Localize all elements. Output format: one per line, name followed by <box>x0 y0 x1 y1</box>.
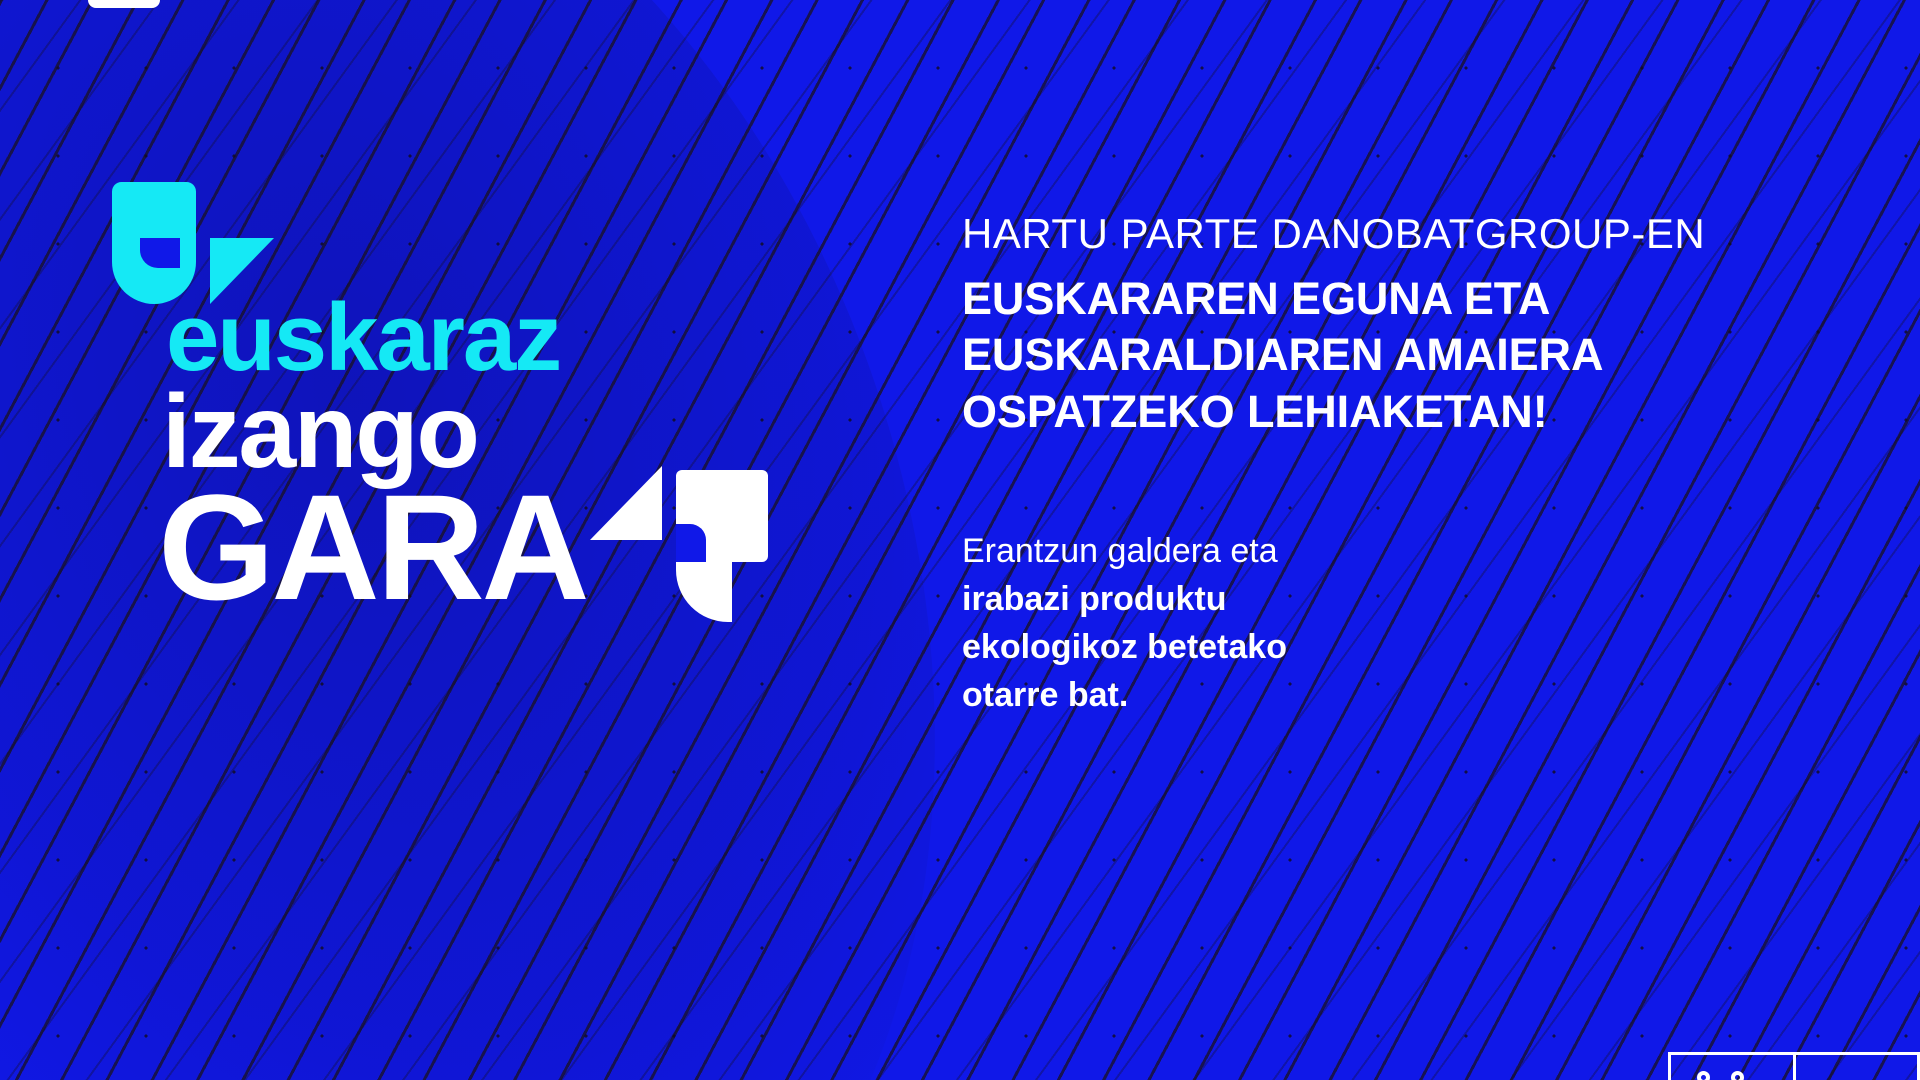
kicker-text: HARTU PARTE DANOBATGROUP-EN <box>962 212 1762 257</box>
partner-logo-box-icon <box>1668 1052 1920 1080</box>
logo-box-cell-right <box>1796 1055 1918 1080</box>
logo-dot-icon <box>1731 1071 1744 1080</box>
top-edge-chip <box>88 0 160 8</box>
body-paragraph: Erantzun galdera eta irabazi produktu ek… <box>962 527 1762 720</box>
poster-canvas: euskaraz izango GARA HARTU PARTE DANOBAT… <box>0 0 1920 1080</box>
body-line-2: irabazi produktu <box>962 575 1762 623</box>
brand-line-euskaraz: euskaraz <box>166 298 764 379</box>
logo-box-cell-left <box>1671 1055 1796 1080</box>
body-line-4: otarre bat. <box>962 671 1762 719</box>
brand-accent-shapes <box>590 466 800 626</box>
body-line-3: ekologikoz betetako <box>962 623 1762 671</box>
euskaraldia-quote-mark-icon <box>112 182 302 304</box>
headline-line-1: EUSKARAREN EGUNA ETA <box>962 271 1762 328</box>
logo-dot-icon <box>1697 1071 1710 1080</box>
triangle-icon <box>210 238 274 304</box>
comma-quote-tail <box>676 562 732 622</box>
comma-quote-cutout <box>676 524 706 564</box>
quote-notch-shape <box>140 238 180 268</box>
triangle-icon <box>590 466 662 540</box>
body-line-1: Erantzun galdera eta <box>962 527 1762 575</box>
headline-block: EUSKARAREN EGUNA ETA EUSKARALDIAREN AMAI… <box>962 271 1762 441</box>
headline-line-2: EUSKARALDIAREN AMAIERA <box>962 327 1762 384</box>
copy-column: HARTU PARTE DANOBATGROUP-EN EUSKARAREN E… <box>962 212 1762 720</box>
headline-line-3: OSPATZEKO LEHIAKETAN! <box>962 384 1762 441</box>
